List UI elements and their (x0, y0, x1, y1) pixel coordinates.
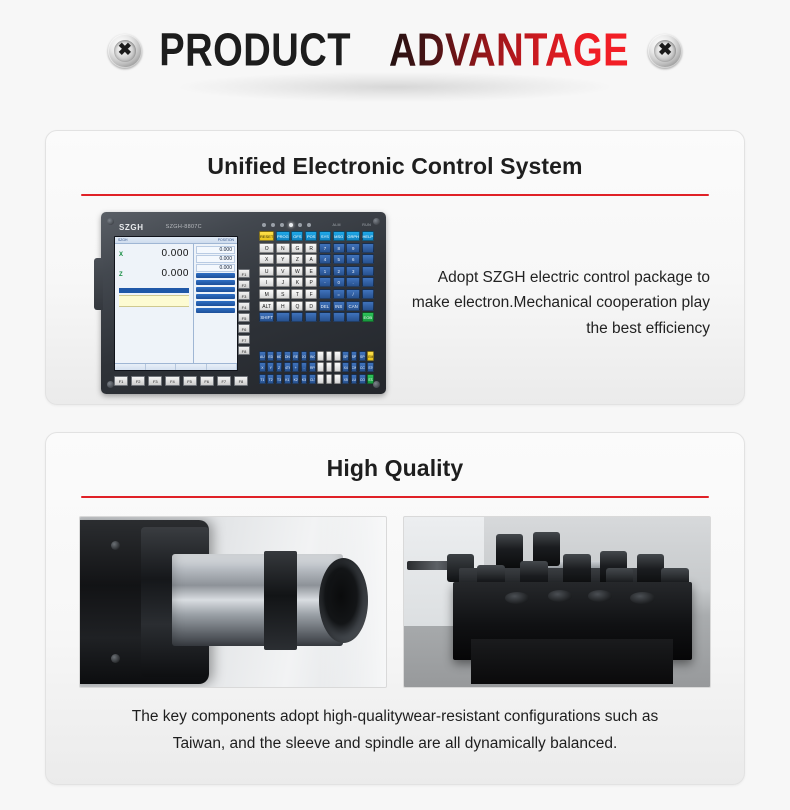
cnc-keypad-key[interactable]: P (305, 277, 317, 287)
cnc-keypad-key[interactable]: 9 (346, 243, 360, 253)
cnc-keypad-key[interactable]: A (305, 254, 317, 264)
cnc-keypad-key[interactable] (276, 312, 290, 322)
tool-holder (496, 534, 524, 568)
cnc-keypad-key[interactable]: GRPH (346, 231, 360, 241)
cnc-keypad-key[interactable]: V (276, 266, 290, 276)
cnc-operation-row: AUTOEDITMDIDNCREFJOGINCSP-SP0SP+EMG (259, 351, 374, 361)
cnc-operation-key[interactable] (326, 374, 333, 384)
cnc-operation-key[interactable]: RPD (309, 362, 316, 372)
lcd-menu-bar (196, 294, 235, 299)
cnc-left-section: SZGH SZGH-8807C SZGH POSITION (110, 220, 250, 386)
cnc-operation-key[interactable]: T2 (267, 374, 274, 384)
cnc-soft-key[interactable]: F4 (165, 376, 179, 386)
cnc-function-key[interactable]: F8 (238, 346, 250, 355)
cnc-soft-key[interactable]: F1 (114, 376, 128, 386)
cnc-keypad-key[interactable] (362, 254, 374, 264)
cnc-operation-key[interactable]: K2 (292, 374, 299, 384)
cnc-operation-row: XYZ4TH+-RPDX4CWCCWSTOP (259, 362, 374, 372)
cnc-keypad-key[interactable]: 5 (333, 254, 345, 264)
led-icon (280, 223, 284, 227)
caption-line-2: Taiwan, and the sleeve and spindle are a… (86, 731, 704, 758)
page-title: ✖ PRODUCT ADVANTAGE ✖ (108, 0, 682, 71)
cnc-operation-key[interactable]: + (292, 362, 299, 372)
cnc-keypad-key[interactable] (333, 312, 345, 322)
panel-screw-icon (107, 381, 114, 388)
lcd-register: 0.000 (196, 255, 235, 263)
cnc-operation-key[interactable]: Z (276, 362, 283, 372)
cnc-operation-key[interactable]: 4TH (284, 362, 291, 372)
cnc-operation-key[interactable]: EMG (367, 351, 374, 361)
lcd-register-panel: 0.000 0.000 0.000 (193, 244, 237, 363)
cnc-keypad-key[interactable]: E (305, 266, 317, 276)
cnc-model-number: SZGH-8807C (166, 224, 202, 230)
lcd-menu-bars (196, 273, 235, 313)
led-icon (262, 223, 266, 227)
cnc-keypad-key[interactable]: X (259, 254, 274, 264)
cnc-operation-key[interactable]: DNC (284, 351, 291, 361)
cnc-keypad-key[interactable]: J (276, 277, 290, 287)
cnc-operation-row: T1T2T3K1K2K3CLTX5LUBCOOLSTART (259, 374, 374, 384)
cnc-operation-key[interactable]: LUB (351, 374, 358, 384)
cnc-soft-key[interactable]: F5 (183, 376, 197, 386)
axis-value: 0.000 (161, 268, 189, 279)
cnc-operation-key[interactable]: INC (309, 351, 316, 361)
cnc-keypad-key[interactable] (291, 312, 303, 322)
cnc-keypad-key[interactable]: INS (333, 301, 345, 311)
cnc-operation-key[interactable]: SP0 (351, 351, 358, 361)
axis-value: 0.000 (161, 248, 189, 259)
led-icon (298, 223, 302, 227)
cnc-function-key[interactable]: F2 (238, 280, 250, 289)
panel-screw-icon (107, 218, 114, 225)
cnc-operation-key[interactable]: X4 (342, 362, 349, 372)
cnc-keypad[interactable]: RESETPROGOFSPOSSYSMSGGRPHHELPONGR789XYZA… (256, 229, 377, 324)
cnc-operation-key[interactable]: K3 (301, 374, 308, 384)
lcd-status-cell (115, 364, 146, 370)
cnc-keypad-key[interactable]: = (333, 289, 345, 299)
cnc-keypad-key[interactable]: F (305, 289, 317, 299)
cnc-operation-key[interactable]: T3 (276, 374, 283, 384)
title-word-product: PRODUCT (159, 28, 351, 74)
cnc-brand-name: SZGH (119, 223, 144, 232)
cnc-operation-key[interactable]: T1 (259, 374, 266, 384)
card-title: Unified Electronic Control System (46, 131, 744, 180)
cnc-function-key[interactable]: F6 (238, 324, 250, 333)
cnc-keypad-key[interactable]: POS (305, 231, 317, 241)
cnc-operation-key[interactable]: SP- (342, 351, 349, 361)
card-description-text: Adopt SZGH electric control package to m… (386, 265, 722, 340)
lcd-register: 0.000 (196, 264, 235, 272)
cnc-keypad-key[interactable]: U (259, 266, 274, 276)
cnc-keypad-key[interactable]: Q (291, 301, 303, 311)
cnc-keypad-key[interactable]: SYS (319, 231, 331, 241)
cnc-soft-key-row[interactable]: F1F2F3F4F5F6F7F8 (110, 374, 250, 386)
page-header: ✖ PRODUCT ADVANTAGE ✖ (0, 0, 790, 112)
cnc-function-key[interactable]: F3 (238, 291, 250, 300)
cnc-soft-key[interactable]: F8 (234, 376, 248, 386)
cnc-operation-key[interactable]: MDI (276, 351, 283, 361)
cnc-keypad-key[interactable]: DEL (319, 301, 331, 311)
cnc-led-indicator-row: ALM RUN (256, 220, 377, 229)
cnc-keypad-key[interactable]: EOB (362, 312, 374, 322)
cnc-keypad-key[interactable]: / (346, 289, 360, 299)
product-advantage-page: ✖ PRODUCT ADVANTAGE ✖ Unified Electronic… (0, 0, 790, 810)
led-icon (307, 223, 311, 227)
spindle-ring (264, 551, 298, 650)
cnc-keypad-key[interactable]: 6 (346, 254, 360, 264)
axis-label: Z (119, 272, 123, 278)
lcd-status-cell (207, 364, 238, 370)
cnc-soft-key[interactable]: F3 (148, 376, 162, 386)
cnc-operation-key[interactable]: SP+ (359, 351, 366, 361)
cnc-right-section: ALM RUN RESETPROGOFSPOSSYSMSGGRPHHELPONG… (256, 220, 377, 386)
cnc-keypad-key[interactable]: M (259, 289, 274, 299)
cnc-operation-key[interactable] (334, 362, 341, 372)
cnc-keypad-key[interactable]: MSG (333, 231, 345, 241)
cnc-operation-key[interactable] (317, 374, 324, 384)
cnc-keypad-key[interactable] (319, 289, 331, 299)
led-icon (289, 223, 293, 227)
lcd-register: 0.000 (196, 246, 235, 254)
spindle-bolt-icon (111, 541, 120, 550)
cnc-keypad-key[interactable]: K (291, 277, 303, 287)
led-icon (271, 223, 275, 227)
turret-bore (505, 592, 529, 604)
lcd-title-left: SZGH (118, 238, 127, 242)
cnc-keypad-key[interactable]: N (276, 243, 290, 253)
cnc-lcd-screen: SZGH POSITION X 0.000 (114, 236, 238, 371)
cnc-keypad-key[interactable]: W (291, 266, 303, 276)
turret-bore (588, 590, 612, 602)
screw-cross-glyph-right: ✖ (658, 41, 672, 58)
cnc-keypad-key[interactable]: CAN (346, 301, 360, 311)
cnc-keypad-key[interactable]: . (346, 277, 360, 287)
lcd-menu-bar (196, 301, 235, 306)
photo-gallery (46, 498, 744, 688)
cnc-operation-key[interactable]: - (301, 362, 308, 372)
cnc-keypad-key[interactable]: T (291, 289, 303, 299)
cnc-operation-key[interactable] (326, 362, 333, 372)
lcd-status-bar (115, 363, 237, 370)
cnc-operation-key[interactable]: CLT (309, 374, 316, 384)
cnc-operation-key[interactable] (334, 351, 341, 361)
lcd-input-field (119, 295, 189, 307)
cnc-keypad-key[interactable] (362, 277, 374, 287)
cnc-keypad-key[interactable]: G (291, 243, 303, 253)
panel-screw-icon (373, 381, 380, 388)
cnc-keypad-key[interactable]: PROG (276, 231, 290, 241)
caption-line-1: The key components adopt high-qualitywea… (86, 704, 704, 731)
spindle-sleeve-photo (79, 516, 387, 688)
lcd-menu-bar (196, 273, 235, 278)
cnc-keypad-key[interactable]: R (305, 243, 317, 253)
card-high-quality: High Quality (45, 432, 745, 785)
cnc-keypad-key[interactable] (362, 243, 374, 253)
cnc-keypad-key[interactable]: 3 (346, 266, 360, 276)
cnc-keypad-key[interactable]: 8 (333, 243, 345, 253)
cnc-keypad-key[interactable]: O (259, 243, 274, 253)
led-label-alarm: ALM (333, 223, 341, 227)
cnc-keypad-key[interactable]: HELP (362, 231, 374, 241)
cnc-operation-key[interactable]: CW (351, 362, 358, 372)
cnc-soft-key[interactable]: F7 (217, 376, 231, 386)
lcd-title-bar: SZGH POSITION (115, 237, 237, 244)
cnc-keypad-key[interactable]: OFS (291, 231, 303, 241)
cnc-function-key-column[interactable]: F1F2F3F4F5F6F7F8 (238, 234, 250, 374)
cnc-operation-key[interactable]: EDIT (267, 351, 274, 361)
cnc-soft-key[interactable]: F2 (131, 376, 145, 386)
led-label-run: RUN (362, 223, 371, 227)
cnc-keypad-key[interactable] (362, 301, 374, 311)
turret-base (471, 639, 673, 683)
lcd-menu-bar (196, 308, 235, 313)
card-caption: The key components adopt high-qualitywea… (46, 688, 744, 757)
spindle-bolt-icon (111, 654, 120, 663)
turret-bore (630, 592, 654, 604)
lcd-axis-readout: X 0.000 Z 0.000 (115, 244, 193, 363)
cnc-keypad-key[interactable] (362, 266, 374, 276)
cnc-keypad-key[interactable] (362, 289, 374, 299)
turret-bore (548, 590, 572, 602)
cnc-operation-key[interactable]: JOG (301, 351, 308, 361)
cnc-operation-key[interactable] (326, 351, 333, 361)
screw-cross-icon-right: ✖ (648, 34, 682, 68)
lcd-status-cell (146, 364, 177, 370)
cnc-operation-panel[interactable]: AUTOEDITMDIDNCREFJOGINCSP-SP0SP+EMGXYZ4T… (256, 351, 377, 386)
cnc-keypad-key[interactable]: S (276, 289, 290, 299)
cnc-operation-key[interactable]: K1 (284, 374, 291, 384)
cnc-keypad-key[interactable]: H (276, 301, 290, 311)
cnc-keypad-key[interactable]: 1 (319, 266, 331, 276)
cnc-keypad-key[interactable]: Z (291, 254, 303, 264)
axis-row: X 0.000 (119, 248, 189, 259)
cnc-keypad-key[interactable]: SHIFT (259, 312, 274, 322)
cnc-function-key[interactable]: F7 (238, 335, 250, 344)
cnc-keypad-key[interactable] (319, 312, 331, 322)
cnc-function-key[interactable]: F5 (238, 313, 250, 322)
spindle-shaft (172, 554, 343, 646)
card-unified-electronic-control-system: Unified Electronic Control System SZGH S… (45, 130, 745, 405)
cnc-keypad-key[interactable]: - (319, 277, 331, 287)
cnc-keypad-key[interactable]: ALT (259, 301, 274, 311)
card-body: SZGH SZGH-8807C SZGH POSITION (46, 196, 744, 394)
cnc-keypad-key[interactable]: RESET (259, 231, 274, 241)
cnc-keypad-key[interactable]: Y (276, 254, 290, 264)
screw-cross-icon-left: ✖ (108, 34, 142, 68)
tool-turret-photo (403, 516, 711, 688)
cnc-keypad-key[interactable]: 2 (333, 266, 345, 276)
axis-label: X (119, 252, 123, 258)
cnc-operation-key[interactable] (317, 351, 324, 361)
lcd-highlight-bar (119, 288, 189, 293)
lcd-menu-bar (196, 280, 235, 285)
cnc-operation-key[interactable]: COOL (359, 374, 366, 384)
cnc-keypad-key[interactable]: 7 (319, 243, 331, 253)
cnc-keypad-key[interactable]: 4 (319, 254, 331, 264)
cnc-controller-image: SZGH SZGH-8807C SZGH POSITION (101, 212, 386, 394)
cnc-keypad-key[interactable]: 0 (333, 277, 345, 287)
spindle-bore (319, 558, 368, 643)
cnc-operation-key[interactable]: CCW (359, 362, 366, 372)
title-word-advantage: ADVANTAGE (389, 28, 629, 74)
cnc-operation-key[interactable] (334, 374, 341, 384)
cnc-operation-key[interactable]: AUTO (259, 351, 266, 361)
cnc-operation-key[interactable]: REF (292, 351, 299, 361)
cnc-keypad-key[interactable] (346, 312, 360, 322)
cnc-operation-key[interactable]: X5 (342, 374, 349, 384)
cnc-function-key[interactable]: F1 (238, 269, 250, 278)
cnc-function-key[interactable]: F4 (238, 302, 250, 311)
cnc-operation-key[interactable] (317, 362, 324, 372)
cnc-operation-key[interactable]: STOP (367, 362, 374, 372)
axis-row: Z 0.000 (119, 268, 189, 279)
cnc-keypad-key[interactable]: I (259, 277, 274, 287)
screw-cross-glyph-left: ✖ (118, 41, 132, 58)
cnc-keypad-key[interactable]: D (305, 301, 317, 311)
cnc-operation-key[interactable]: Y (267, 362, 274, 372)
panel-screw-icon (373, 218, 380, 225)
cnc-operation-key[interactable]: X (259, 362, 266, 372)
lcd-menu-bar (196, 287, 235, 292)
lcd-main-area: X 0.000 Z 0.000 (115, 244, 237, 363)
cnc-branding: SZGH SZGH-8807C (110, 220, 250, 234)
lcd-status-cell (176, 364, 207, 370)
cnc-soft-key[interactable]: F6 (200, 376, 214, 386)
cnc-keypad-key[interactable] (305, 312, 317, 322)
lcd-title-right: POSITION (218, 238, 234, 242)
card-title: High Quality (46, 433, 744, 482)
header-shadow (180, 72, 610, 102)
